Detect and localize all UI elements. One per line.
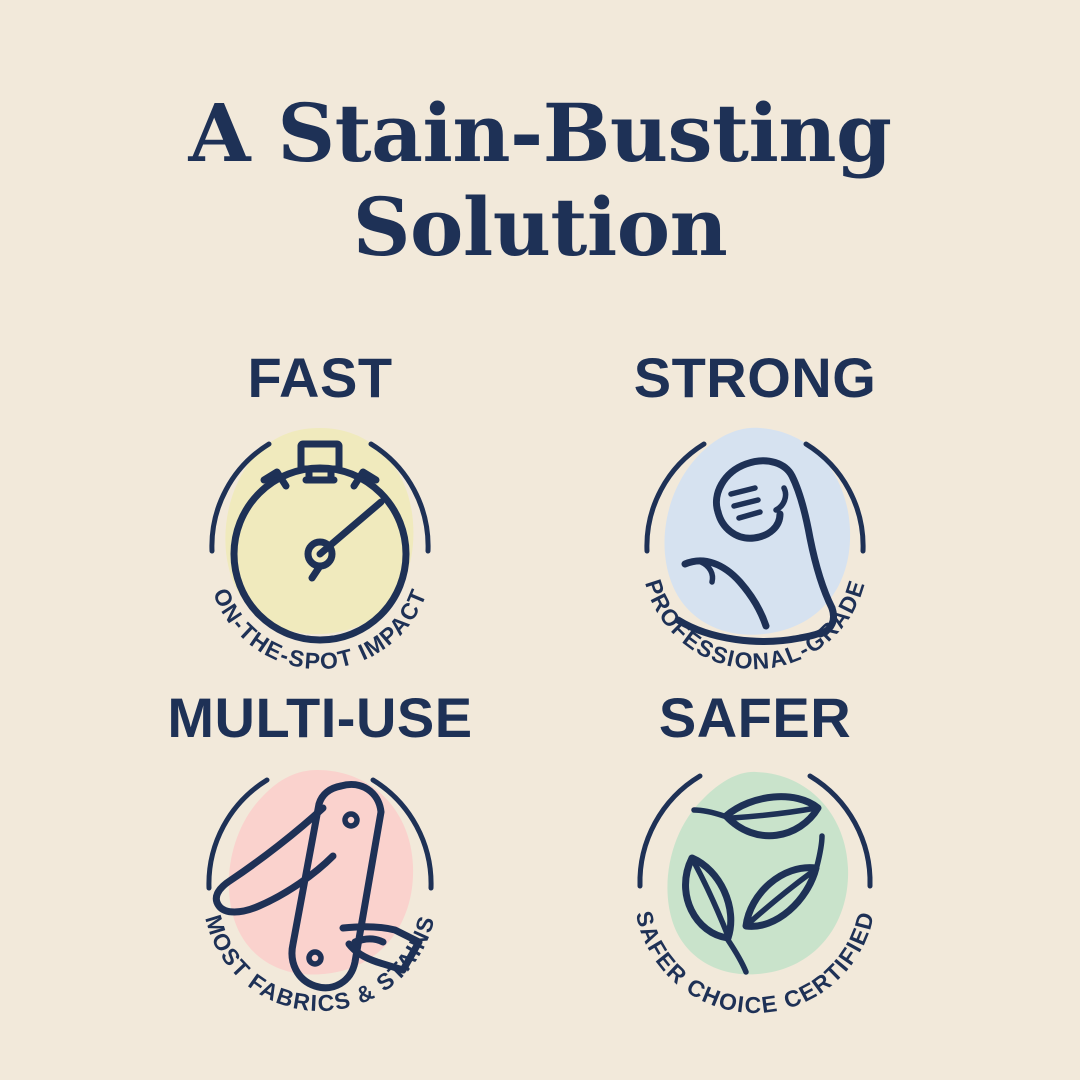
- page-title: A Stain-Busting Solution: [0, 86, 1080, 275]
- badge-multi-use-art: MOST FABRICS & STAINS: [165, 746, 475, 1018]
- page-title-line-2: Solution: [0, 180, 1080, 274]
- badge-grid: FAST: [0, 348, 1080, 1048]
- page-title-line-1: A Stain-Busting: [0, 86, 1080, 180]
- badge-safer[interactable]: SAFER: [545, 688, 965, 1018]
- poster-canvas: A Stain-Busting Solution FAST: [0, 0, 1080, 1080]
- badge-multi-use[interactable]: MULTI-USE: [110, 688, 530, 1018]
- badge-fast-art: ON-THE-SPOT IMPACT: [165, 406, 475, 678]
- badge-safer-title: SAFER: [545, 690, 965, 746]
- badge-multi-use-title: MULTI-USE: [110, 690, 530, 746]
- badge-fast-title: FAST: [110, 350, 530, 406]
- badge-strong-art: PROFESSIONAL-GRADE: [600, 406, 910, 678]
- badge-strong[interactable]: STRONG: [545, 348, 965, 678]
- badge-strong-title: STRONG: [545, 350, 965, 406]
- badge-fast[interactable]: FAST: [110, 348, 530, 678]
- badge-safer-art: SAFER CHOICE CERTIFIED: [600, 746, 910, 1018]
